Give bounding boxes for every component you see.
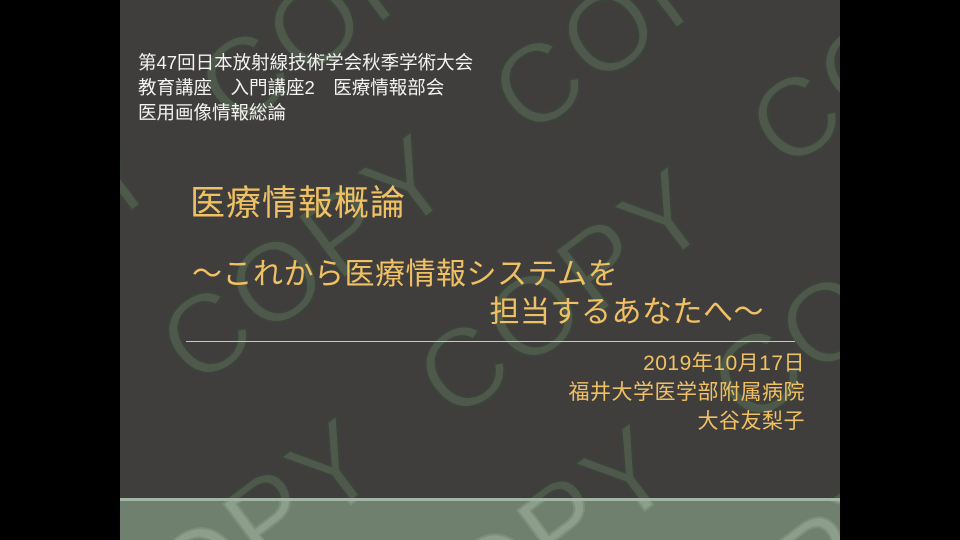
- slide-title: 医療情報概論: [190, 183, 406, 225]
- horizontal-divider: [186, 341, 795, 342]
- footer-watermark-grid: COPY COPY COPY COPY COPY COPY COPY COPY: [120, 501, 840, 540]
- subtitle-line-2: 担当するあなたへ〜: [192, 294, 772, 332]
- conference-header: 第47回日本放射線技術学会秋季学術大会 教育講座 入門講座2 医療情報部会 医用…: [138, 50, 473, 125]
- watermark-word: COPY: [120, 501, 420, 540]
- author-name: 大谷友梨子: [260, 407, 805, 436]
- footer-watermark-clip: COPY COPY COPY COPY COPY COPY COPY COPY: [120, 501, 840, 540]
- pillarbox-left: [0, 0, 120, 540]
- subtitle-line-1: 〜これから医療情報システムを: [192, 256, 772, 294]
- conference-name: 第47回日本放射線技術学会秋季学術大会: [138, 50, 473, 75]
- institution-name: 福井大学医学部附属病院: [260, 378, 805, 407]
- slide-content: 第47回日本放射線技術学会秋季学術大会 教育講座 入門講座2 医療情報部会 医用…: [120, 0, 840, 540]
- slide-footer-bar: COPY COPY COPY COPY COPY COPY COPY COPY: [120, 498, 840, 540]
- slide-subtitle: 〜これから医療情報システムを 担当するあなたへ〜: [192, 256, 772, 332]
- presentation-date: 2019年10月17日: [260, 349, 805, 378]
- footer-watermark-inner: COPY COPY COPY COPY COPY COPY COPY COPY: [120, 501, 840, 540]
- presentation-meta: 2019年10月17日 福井大学医学部附属病院 大谷友梨子: [260, 349, 805, 436]
- session-name: 教育講座 入門講座2 医療情報部会: [138, 75, 473, 100]
- screenshot-canvas: COPY COPY COPY COPY COPY COPY COPY COPY …: [0, 0, 960, 540]
- lecture-topic: 医用画像情報総論: [138, 100, 473, 125]
- pillarbox-right: [840, 0, 960, 540]
- presentation-slide: COPY COPY COPY COPY COPY COPY COPY COPY …: [120, 0, 840, 540]
